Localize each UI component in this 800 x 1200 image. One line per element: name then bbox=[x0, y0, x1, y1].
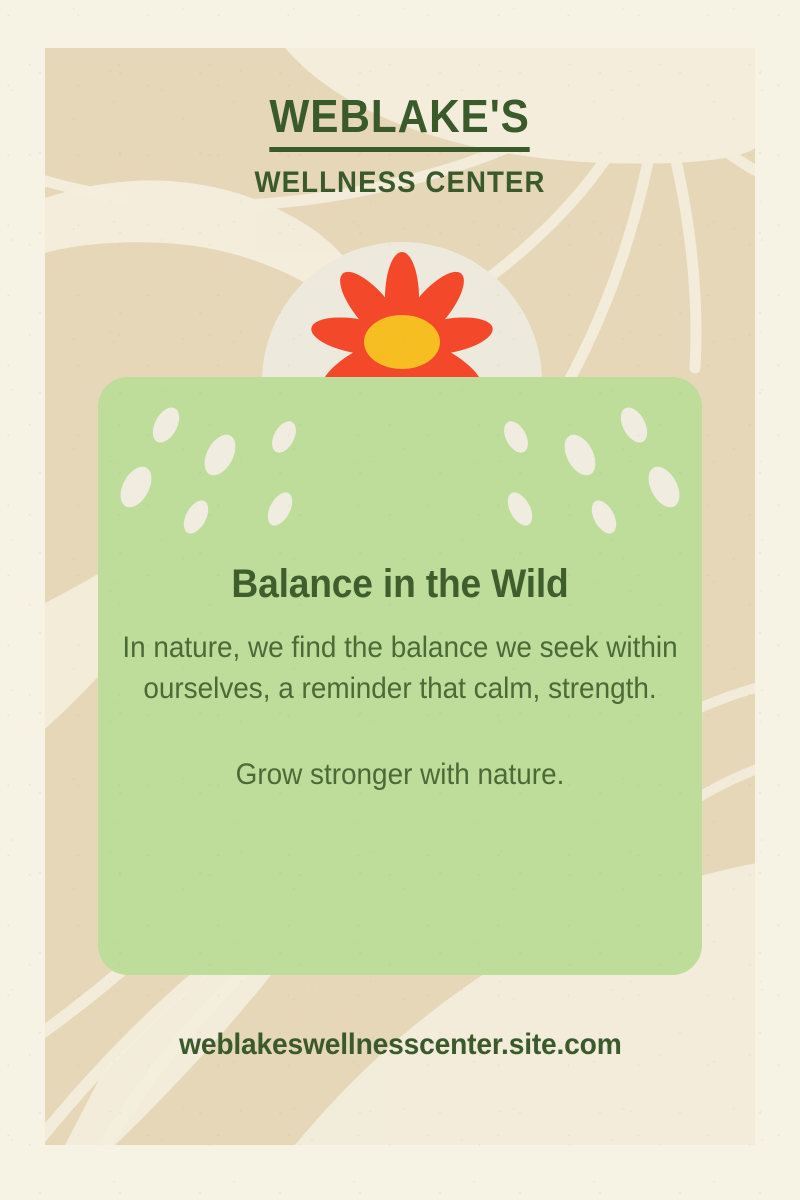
card-paragraph-secondary: Grow stronger with nature. bbox=[119, 754, 681, 795]
card-paragraph-primary: In nature, we find the balance we seek w… bbox=[119, 627, 681, 710]
header: WEBLAKE'S WELLNESS CENTER bbox=[0, 92, 800, 200]
flower-center bbox=[364, 315, 440, 369]
card-title: Balance in the Wild bbox=[119, 562, 681, 607]
quote-card: Balance in the Wild In nature, we find t… bbox=[98, 377, 702, 975]
brand-tagline: WELLNESS CENTER bbox=[32, 166, 768, 200]
website-url[interactable]: weblakeswellnesscenter.site.com bbox=[179, 1028, 621, 1062]
brand-name: WEBLAKE'S bbox=[270, 92, 531, 152]
poster-canvas: WEBLAKE'S WELLNESS CENTER bbox=[0, 0, 800, 1200]
quote-card-content: Balance in the Wild In nature, we find t… bbox=[98, 562, 702, 795]
footer: weblakeswellnesscenter.site.com bbox=[0, 1028, 800, 1062]
